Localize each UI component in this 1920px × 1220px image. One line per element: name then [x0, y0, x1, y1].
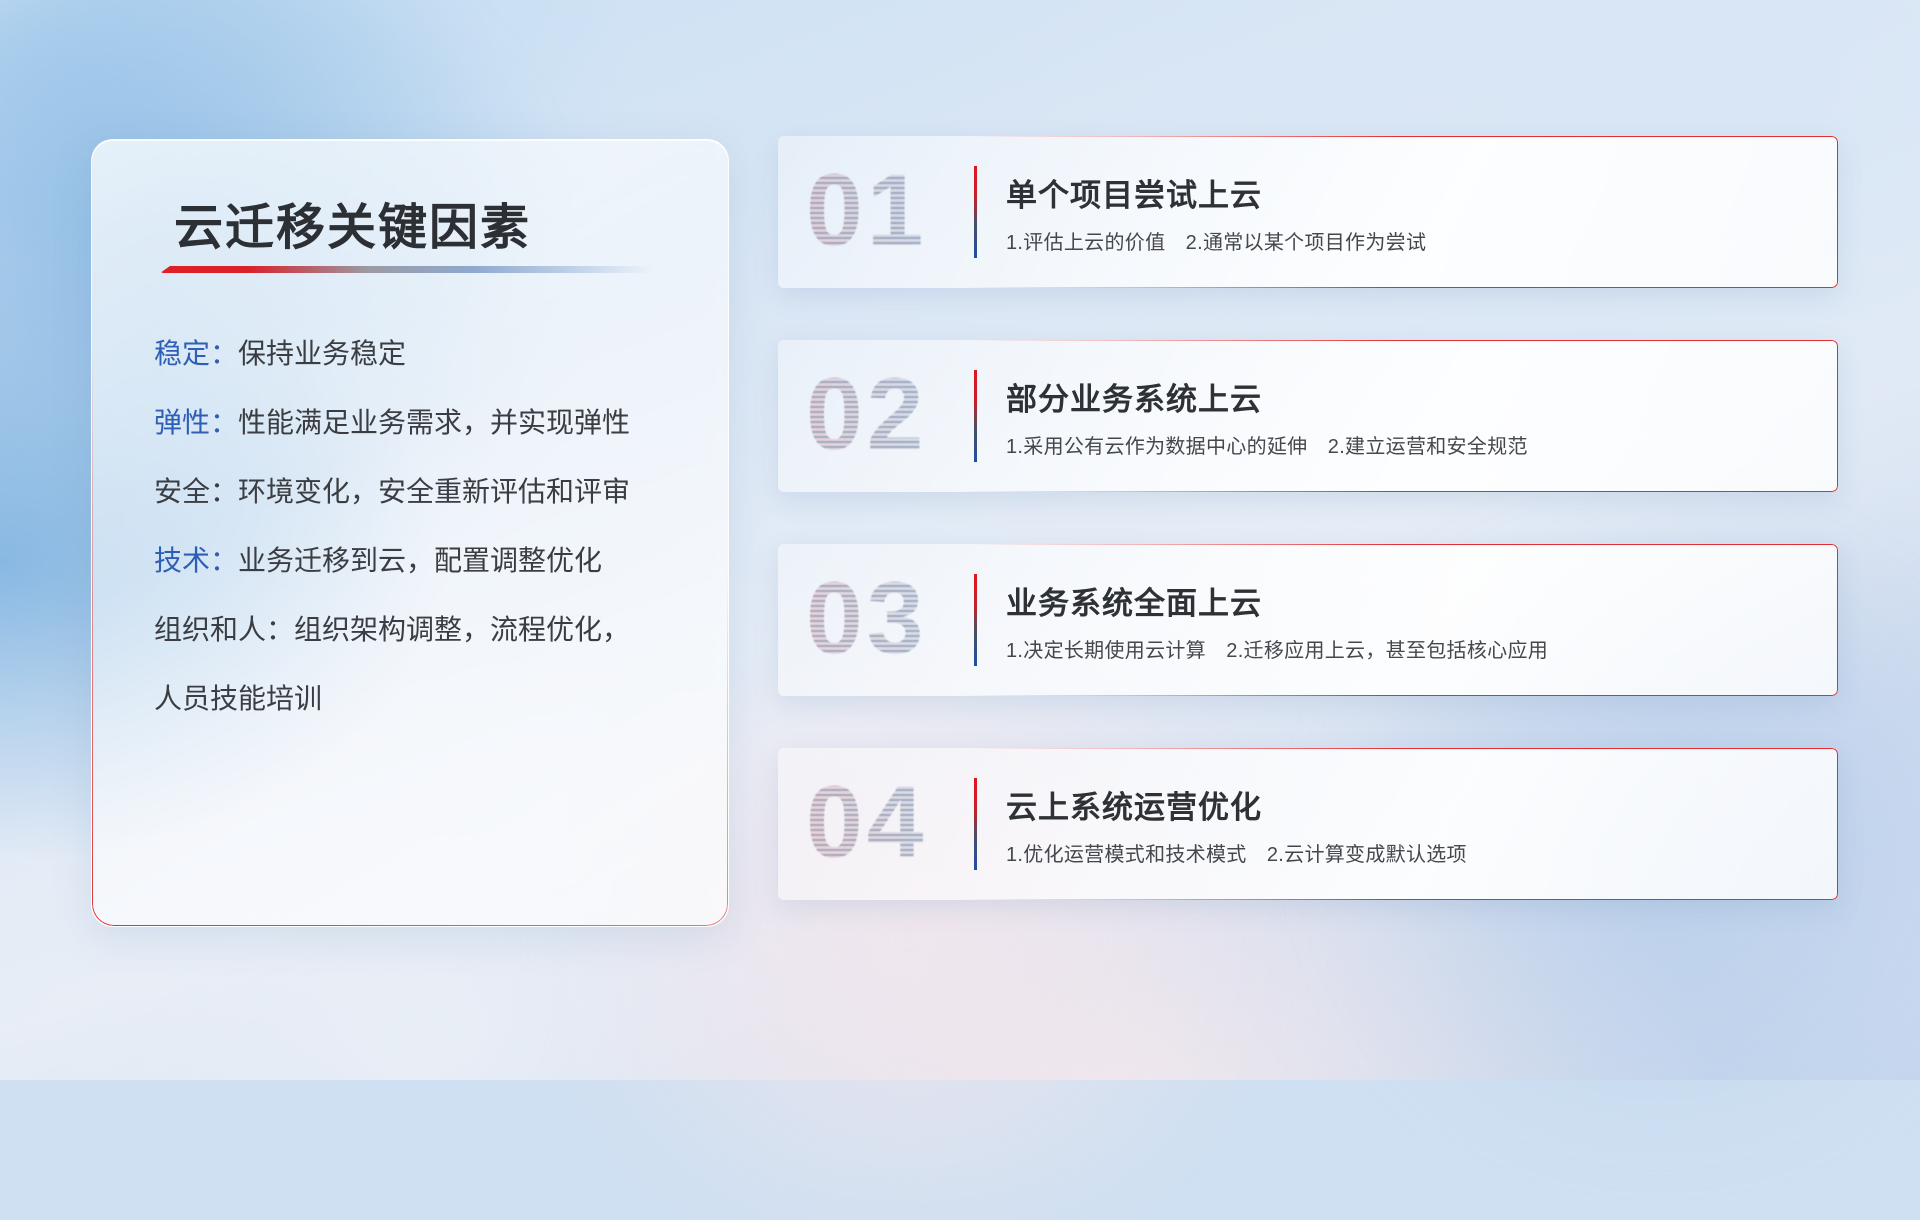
list-item-key: 安全：	[154, 476, 238, 507]
card-divider	[974, 370, 977, 462]
list-item-value: 保持业务稳定	[238, 338, 406, 369]
card-title: 业务系统全面上云	[1006, 578, 1262, 623]
list-item: 稳定：保持业务稳定	[154, 340, 698, 368]
card-divider	[974, 166, 977, 258]
card-title: 云上系统运营优化	[1006, 782, 1262, 827]
list-item-value: 人员技能培训	[154, 683, 322, 714]
list-item-value: 性能满足业务需求，并实现弹性	[238, 407, 630, 438]
list-item-key: 稳定：	[154, 338, 238, 369]
card-title: 部分业务系统上云	[1006, 374, 1262, 419]
card-accent-border	[778, 136, 1838, 288]
list-item-value: 环境变化，安全重新评估和评审	[238, 476, 630, 507]
card-divider	[974, 574, 977, 666]
stage-cards: 01 单个项目尝试上云 1.评估上云的价值 2.通常以某个项目作为尝试 02 部…	[778, 136, 1838, 952]
list-item-value: 业务迁移到云，配置调整优化	[238, 545, 602, 576]
card-accent-border	[778, 748, 1838, 900]
list-item: 安全：环境变化，安全重新评估和评审	[154, 478, 698, 506]
card-subtitle: 1.决定长期使用云计算 2.迁移应用上云，甚至包括核心应用	[1006, 634, 1548, 663]
stage-number: 01	[806, 152, 927, 269]
list-item-value: 组织架构调整，流程优化，	[294, 614, 630, 645]
stage-number: 02	[806, 356, 927, 473]
stage-card[interactable]: 01 单个项目尝试上云 1.评估上云的价值 2.通常以某个项目作为尝试	[778, 136, 1838, 288]
stage-card[interactable]: 02 部分业务系统上云 1.采用公有云作为数据中心的延伸 2.建立运营和安全规范	[778, 340, 1838, 492]
stage-card[interactable]: 03 业务系统全面上云 1.决定长期使用云计算 2.迁移应用上云，甚至包括核心应…	[778, 544, 1838, 696]
list-item: 组织和人：组织架构调整，流程优化，	[154, 616, 698, 644]
card-subtitle: 1.优化运营模式和技术模式 2.云计算变成默认选项	[1006, 838, 1467, 867]
key-factors-list: 稳定：保持业务稳定 弹性：性能满足业务需求，并实现弹性 安全：环境变化，安全重新…	[154, 340, 698, 754]
card-subtitle: 1.采用公有云作为数据中心的延伸 2.建立运营和安全规范	[1006, 430, 1528, 459]
key-factors-panel: 云迁移关键因素 稳定：保持业务稳定 弹性：性能满足业务需求，并实现弹性 安全：环…	[91, 139, 729, 927]
list-item: 人员技能培训	[154, 685, 698, 713]
list-item-key: 技术：	[154, 545, 238, 576]
stage-number: 03	[806, 560, 927, 677]
stage-card[interactable]: 04 云上系统运营优化 1.优化运营模式和技术模式 2.云计算变成默认选项	[778, 748, 1838, 900]
list-item-key: 弹性：	[154, 407, 238, 438]
list-item: 技术：业务迁移到云，配置调整优化	[154, 547, 698, 575]
card-accent-border	[778, 340, 1838, 492]
card-subtitle: 1.评估上云的价值 2.通常以某个项目作为尝试	[1006, 226, 1426, 255]
card-divider	[974, 778, 977, 870]
card-accent-border	[778, 544, 1838, 696]
page-title: 云迁移关键因素	[174, 188, 531, 259]
card-title: 单个项目尝试上云	[1006, 170, 1262, 215]
list-item: 弹性：性能满足业务需求，并实现弹性	[154, 409, 698, 437]
title-underline-rule	[160, 266, 652, 273]
list-item-key: 组织和人：	[154, 614, 294, 645]
stage-number: 04	[806, 764, 927, 881]
